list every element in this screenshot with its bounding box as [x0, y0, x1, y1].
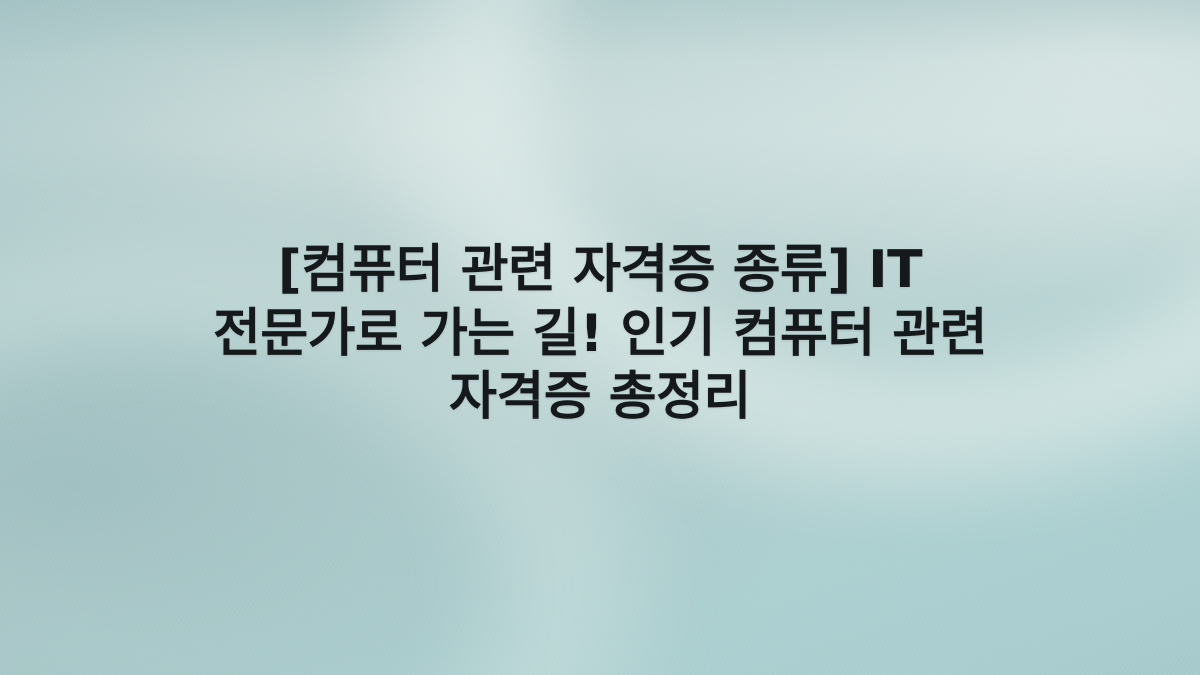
headline-container: [컴퓨터 관련 자격증 종류] IT 전문가로 가는 길! 인기 컴퓨터 관련 …: [0, 0, 1200, 675]
headline-line-2: 전문가로 가는 길! 인기 컴퓨터 관련: [120, 303, 1080, 366]
title-card: [컴퓨터 관련 자격증 종류] IT 전문가로 가는 길! 인기 컴퓨터 관련 …: [0, 0, 1200, 675]
headline-line-1: [컴퓨터 관련 자격증 종류] IT: [120, 239, 1080, 302]
page-title: [컴퓨터 관련 자격증 종류] IT 전문가로 가는 길! 인기 컴퓨터 관련 …: [120, 239, 1080, 429]
headline-line-3: 자격증 총정리: [120, 366, 1080, 429]
